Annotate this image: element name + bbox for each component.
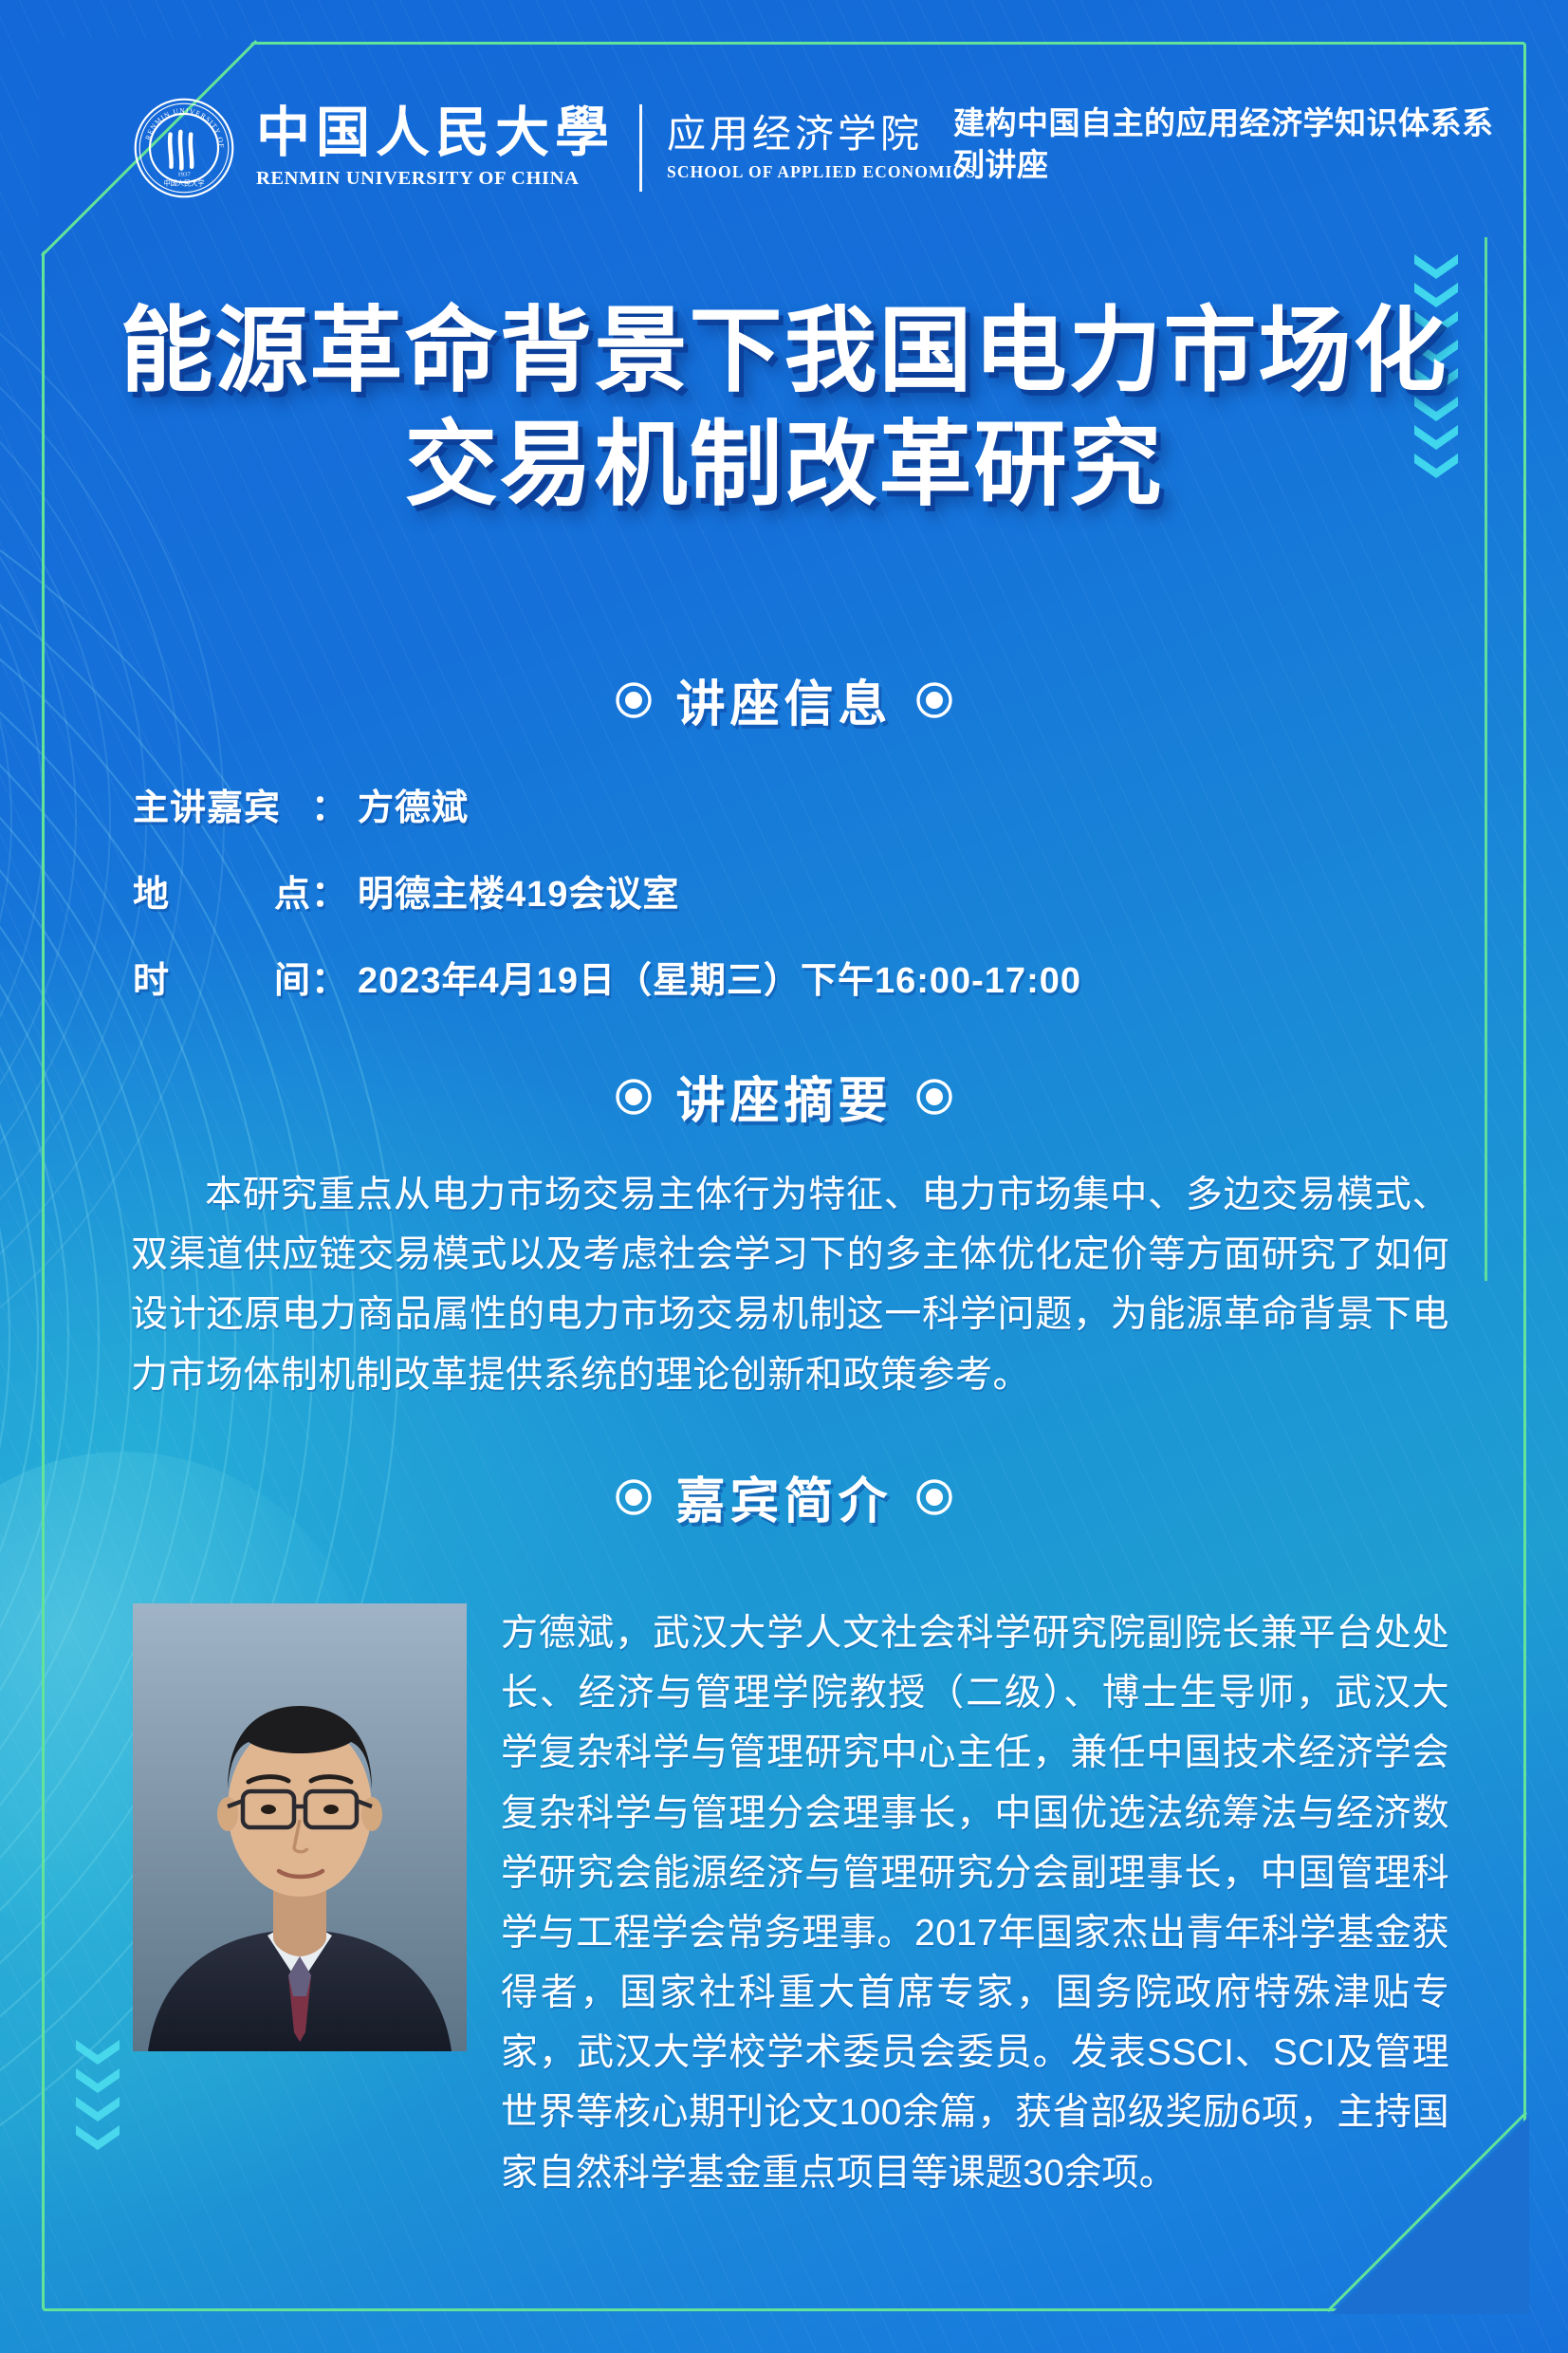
- school-name-en: SCHOOL OF APPLIED ECONOMICS: [667, 162, 976, 182]
- page-title: 能源革命背景下我国电力市场化 交易机制改革研究: [0, 294, 1568, 521]
- info-row-time: 时间 ： 2023年4月19日（星期三）下午16:00-17:00: [133, 951, 1081, 1003]
- chevron-down-icon: [76, 2125, 120, 2150]
- ring-dot-icon: [615, 1071, 653, 1109]
- ring-dot-icon: [615, 1472, 653, 1510]
- section-heading-bio: 嘉宾简介: [0, 1461, 1568, 1532]
- info-label-speaker: 主讲嘉宾: [133, 778, 311, 830]
- university-identity: RENMIN UNIVERSITY OF CHINA 1937 中国人民大学 中…: [133, 91, 976, 205]
- ring-dot-icon: [915, 1071, 953, 1109]
- section-heading-abstract-label: 讲座摘要: [675, 1074, 892, 1129]
- speaker-portrait: [133, 1603, 467, 2051]
- ring-dot-icon: [915, 675, 953, 713]
- university-name-en: RENMIN UNIVERSITY OF CHINA: [256, 168, 615, 190]
- chevron-down-icon: [76, 2040, 120, 2065]
- info-value-time: 2023年4月19日（星期三）下午16:00-17:00: [358, 951, 1081, 1003]
- title-line-1: 能源革命背景下我国电力市场化: [120, 298, 1448, 402]
- identity-divider: [639, 104, 642, 192]
- info-colon: ：: [311, 778, 348, 830]
- chevron-down-icon: [76, 2068, 120, 2093]
- info-value-speaker: 方德斌: [358, 778, 469, 830]
- lecture-info-list: 主讲嘉宾 ： 方德斌 地点 ： 明德主楼419会议室 时间 ： 2023年4月1…: [133, 778, 1081, 1037]
- poster-header: RENMIN UNIVERSITY OF CHINA 1937 中国人民大学 中…: [0, 91, 1568, 205]
- info-colon: ：: [311, 864, 348, 917]
- bio-body: 方德斌，武汉大学人文社会科学研究院副院长兼平台处处长、经济与管理学院教授（二级）…: [501, 1603, 1449, 2203]
- svg-text:1937: 1937: [177, 172, 191, 178]
- info-label-venue: 地点: [133, 864, 311, 917]
- series-title: 建构中国自主的应用经济学知识体系系列讲座: [953, 102, 1503, 185]
- section-heading-info: 讲座信息: [0, 664, 1568, 735]
- info-colon: ：: [311, 951, 348, 1003]
- chevron-down-icon: [1414, 254, 1458, 279]
- abstract-body: 本研究重点从电力市场交易主体行为特征、电力市场集中、多边交易模式、双渠道供应链交…: [131, 1165, 1449, 1405]
- chevron-strip-left: [76, 2040, 120, 2150]
- section-heading-bio-label: 嘉宾简介: [675, 1474, 892, 1529]
- title-line-2: 交易机制改革研究: [0, 408, 1568, 522]
- info-label-time: 时间: [133, 951, 311, 1003]
- info-value-venue: 明德主楼419会议室: [358, 864, 679, 917]
- section-heading-info-label: 讲座信息: [675, 677, 892, 732]
- svg-text:中国人民大学: 中国人民大学: [163, 179, 204, 188]
- info-row-speaker: 主讲嘉宾 ： 方德斌: [133, 778, 1081, 830]
- renmin-university-seal-icon: RENMIN UNIVERSITY OF CHINA 1937 中国人民大学: [133, 97, 235, 199]
- school-name-block: 应用经济学院 SCHOOL OF APPLIED ECONOMICS: [667, 114, 976, 182]
- school-name-cn: 应用经济学院: [667, 114, 976, 155]
- ring-dot-icon: [615, 675, 653, 713]
- info-row-venue: 地点 ： 明德主楼419会议室: [133, 864, 1081, 917]
- section-heading-abstract: 讲座摘要: [0, 1061, 1568, 1132]
- chevron-down-icon: [76, 2097, 120, 2121]
- ring-dot-icon: [915, 1472, 953, 1510]
- poster-root: RENMIN UNIVERSITY OF CHINA 1937 中国人民大学 中…: [0, 0, 1568, 2353]
- university-name-block: 中国人民大學 RENMIN UNIVERSITY OF CHINA: [256, 106, 615, 189]
- university-name-cn: 中国人民大學: [256, 106, 615, 161]
